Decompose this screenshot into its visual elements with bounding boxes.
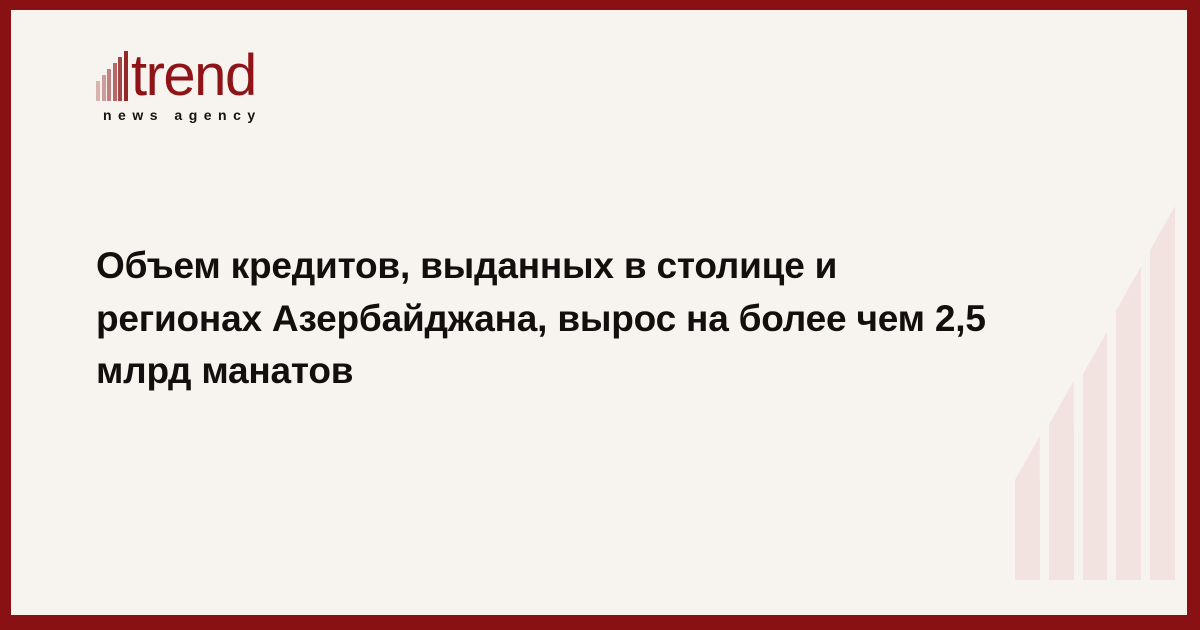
watermark-bar bbox=[1083, 375, 1108, 580]
trend-news-agency-logo[interactable]: trend news agency bbox=[96, 43, 316, 123]
logo-tagline: news agency bbox=[103, 107, 316, 123]
watermark-bar bbox=[1150, 250, 1175, 580]
logo-bar bbox=[113, 63, 117, 101]
ascending-bars-icon bbox=[96, 51, 129, 101]
logo-bar bbox=[124, 51, 128, 101]
logo-bar bbox=[107, 69, 111, 101]
logo-mark: trend bbox=[96, 43, 316, 101]
logo-bar bbox=[118, 57, 122, 101]
card-canvas: trend news agency Объем кредитов, выданн… bbox=[11, 10, 1187, 615]
social-card: trend news agency Объем кредитов, выданн… bbox=[0, 0, 1200, 630]
watermark-bar bbox=[1049, 425, 1074, 580]
watermark-bar bbox=[1116, 310, 1141, 580]
watermark-bar bbox=[1015, 480, 1040, 580]
logo-bar bbox=[102, 75, 106, 101]
logo-bar bbox=[96, 81, 100, 101]
logo-wordmark: trend bbox=[131, 50, 256, 101]
page-title: Объем кредитов, выданных в столице и рег… bbox=[96, 240, 1001, 398]
ascending-bar-chart-watermark bbox=[1015, 160, 1175, 580]
